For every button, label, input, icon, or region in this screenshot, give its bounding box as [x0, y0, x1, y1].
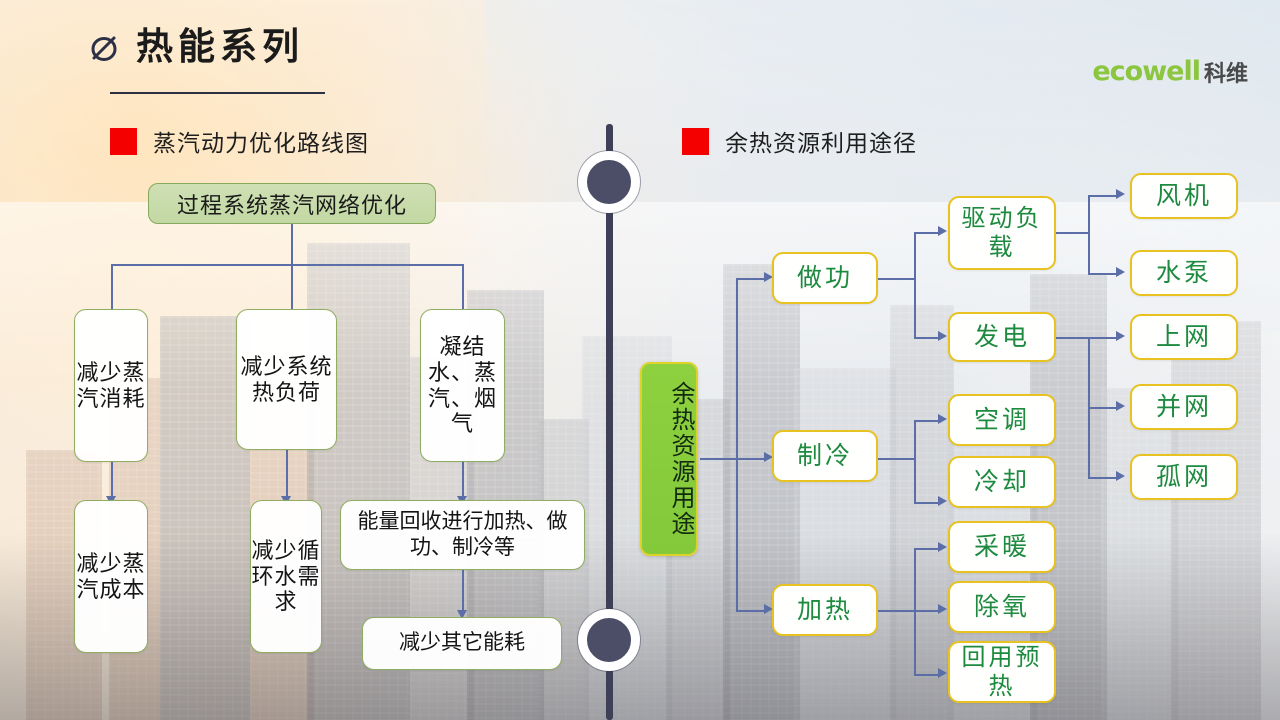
logo-chinese-text: 科维	[1204, 62, 1248, 85]
node-air-conditioning[interactable]: 空调	[948, 394, 1056, 446]
arrow-icon	[938, 226, 947, 236]
red-square-bullet-icon	[110, 128, 137, 155]
divider-node-top	[578, 151, 640, 213]
node-drive-load[interactable]: 驱动负载	[948, 196, 1056, 270]
connector	[291, 223, 293, 265]
node-reduce-system-heat-load[interactable]: 减少系统热负荷	[236, 309, 337, 450]
connector	[736, 278, 738, 610]
connector	[878, 610, 914, 612]
brand-logo: ecowell 科维	[1092, 58, 1248, 85]
section-title-left: 蒸汽动力优化路线图	[153, 124, 369, 158]
arrow-icon	[1116, 331, 1125, 341]
connector	[462, 570, 464, 612]
section-heading-left: 蒸汽动力优化路线图	[110, 124, 369, 158]
connector	[914, 502, 940, 504]
arrow-icon	[938, 668, 947, 678]
connector	[914, 420, 916, 503]
connector	[1088, 195, 1118, 197]
slashed-circle-icon	[88, 30, 122, 64]
connector	[111, 264, 113, 309]
node-cooling-water[interactable]: 冷却	[948, 456, 1056, 508]
connector	[286, 450, 288, 498]
connector	[736, 458, 766, 460]
node-reduce-other-energy-consumption[interactable]: 减少其它能耗	[362, 617, 562, 670]
connector	[878, 278, 914, 280]
arrow-icon	[938, 331, 947, 341]
arrow-icon	[938, 542, 947, 552]
arrow-icon	[1116, 189, 1125, 199]
node-cooling[interactable]: 制冷	[772, 430, 878, 482]
node-reduce-steam-cost[interactable]: 减少蒸汽成本	[74, 500, 148, 653]
logo-latin-text: ecowell	[1092, 58, 1200, 85]
title-underline	[110, 92, 325, 94]
arrow-icon	[1116, 267, 1125, 277]
connector	[700, 458, 736, 460]
connector	[736, 610, 766, 612]
node-grid-connected[interactable]: 并网	[1130, 384, 1238, 430]
connector	[1088, 407, 1118, 409]
page-title: 热能系列	[136, 28, 304, 65]
node-reuse-preheat[interactable]: 回用预热	[948, 641, 1056, 703]
connector	[1088, 477, 1118, 479]
node-space-heating[interactable]: 采暖	[948, 521, 1056, 573]
section-heading-right: 余热资源利用途径	[682, 124, 917, 158]
arrow-icon	[938, 414, 947, 424]
node-water-pump[interactable]: 水泵	[1130, 250, 1238, 296]
arrow-icon	[1116, 471, 1125, 481]
connector	[878, 458, 914, 460]
connector	[914, 420, 940, 422]
arrow-icon	[938, 496, 947, 506]
node-power-generation[interactable]: 发电	[948, 312, 1056, 362]
node-island-grid[interactable]: 孤网	[1130, 454, 1238, 500]
section-title-right: 余热资源利用途径	[725, 124, 917, 158]
node-energy-recovery-heating-work-cooling[interactable]: 能量回收进行加热、做功、制冷等	[340, 500, 585, 570]
connector	[462, 264, 464, 309]
node-do-work[interactable]: 做功	[772, 252, 878, 304]
connector	[1056, 337, 1088, 339]
node-condensate-steam-fluegas[interactable]: 凝结水、蒸汽、烟气	[420, 309, 505, 462]
arrow-icon	[938, 604, 947, 614]
connector	[914, 610, 940, 612]
node-process-steam-network-optimization[interactable]: 过程系统蒸汽网络优化	[148, 183, 436, 224]
divider-node-bottom	[578, 609, 640, 671]
connector	[462, 462, 464, 498]
connector	[914, 232, 916, 338]
node-heating[interactable]: 加热	[772, 584, 878, 636]
slide-canvas: 热能系列 ecowell 科维 蒸汽动力优化路线图 余热资源利用途径 过程系统蒸…	[0, 0, 1280, 720]
node-deaeration[interactable]: 除氧	[948, 581, 1056, 633]
connector	[1088, 337, 1118, 339]
node-waste-heat-resource-usage[interactable]: 余热资源用途	[640, 362, 698, 556]
connector	[914, 337, 940, 339]
connector	[111, 462, 113, 498]
connector	[914, 548, 940, 550]
page-title-row: 热能系列	[88, 28, 304, 65]
node-grid-feed-in[interactable]: 上网	[1130, 314, 1238, 360]
arrow-icon	[1116, 401, 1125, 411]
connector	[914, 232, 940, 234]
red-square-bullet-icon	[682, 128, 709, 155]
node-fan[interactable]: 风机	[1130, 173, 1238, 219]
connector	[914, 674, 940, 676]
connector	[291, 264, 293, 309]
connector	[736, 278, 766, 280]
node-reduce-steam-consumption[interactable]: 减少蒸汽消耗	[74, 309, 148, 462]
connector	[1088, 273, 1118, 275]
connector	[1088, 195, 1090, 274]
node-reduce-circulating-water-demand[interactable]: 减少循环水需求	[250, 500, 322, 653]
connector	[111, 264, 463, 266]
connector	[1056, 232, 1088, 234]
